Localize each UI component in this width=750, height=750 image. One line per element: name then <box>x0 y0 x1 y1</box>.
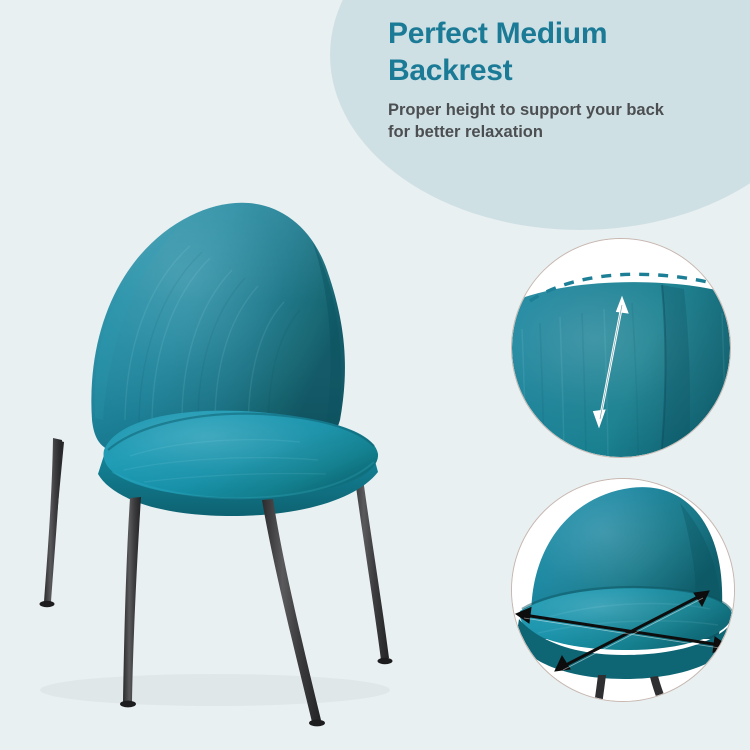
headline-text: Perfect Medium Backrest <box>388 16 718 89</box>
subheadline-text: Proper height to support your back for b… <box>388 100 718 144</box>
product-chair-illustration <box>0 120 460 740</box>
backrest-height-callout: 14" <box>511 238 731 458</box>
product-feature-image: Perfect Medium Backrest Proper height to… <box>0 0 750 750</box>
headline-banner-text: Perfect Medium Backrest Proper height to… <box>388 16 718 144</box>
chair-shadow <box>40 674 390 706</box>
seat-size-callout: 16.5" 18" <box>511 478 735 702</box>
